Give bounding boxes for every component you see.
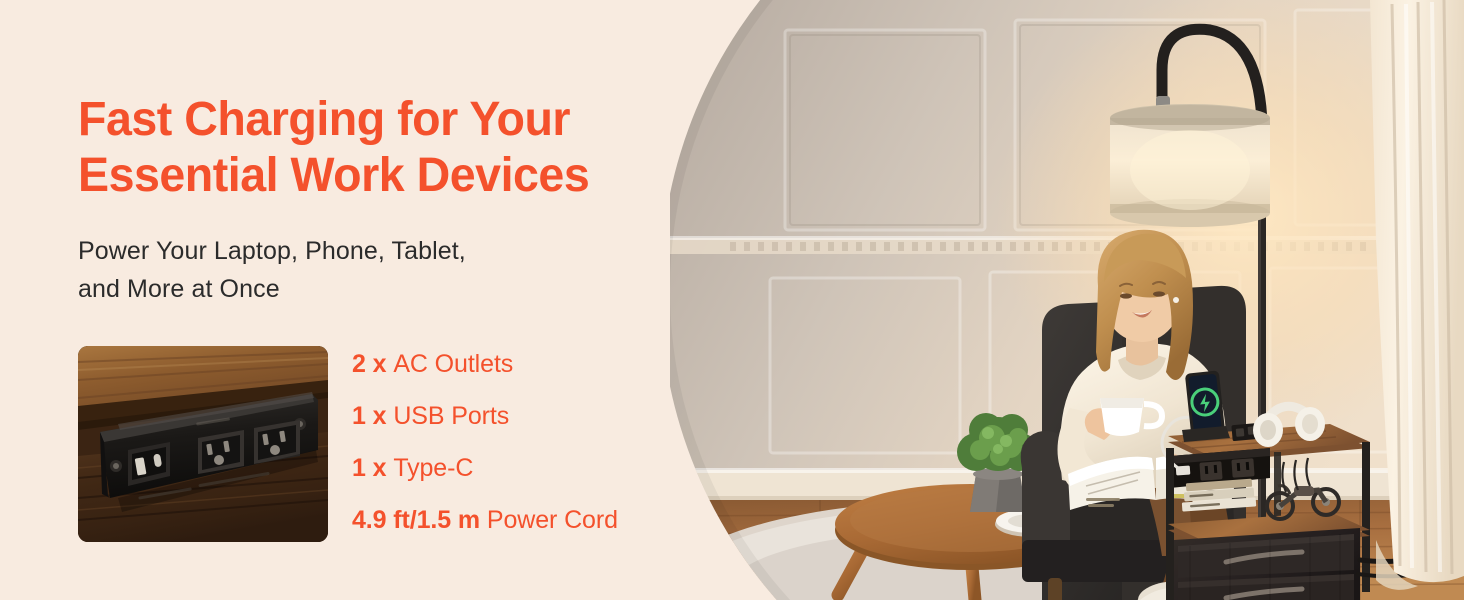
product-thumbnail	[78, 346, 328, 542]
feature-item-0: 2 x AC Outlets	[352, 352, 682, 377]
subheadline-line-2: and More at Once	[78, 270, 678, 308]
subheadline: Power Your Laptop, Phone, Tablet, and Mo…	[78, 232, 678, 308]
page-title: Fast Charging for Your Essential Work De…	[78, 92, 679, 203]
feature-label: Type-C	[393, 454, 473, 482]
headline-line-1: Fast Charging for Your	[78, 92, 679, 148]
feature-item-3: 4.9 ft/1.5 m Power Cord	[352, 508, 682, 533]
feature-label: AC Outlets	[393, 350, 513, 378]
feature-item-2: 1 x Type-C	[352, 456, 682, 481]
headline-line-2: Essential Work Devices	[78, 148, 679, 204]
left-text-panel: Fast Charging for Your Essential Work De…	[0, 0, 700, 600]
lifestyle-photo	[670, 0, 1464, 600]
feature-list: 2 x AC Outlets 1 x USB Ports 1 x Type-C …	[352, 352, 682, 533]
feature-quantity: 4.9 ft/1.5 m	[352, 506, 487, 534]
feature-quantity: 1 x	[352, 454, 393, 482]
feature-item-1: 1 x USB Ports	[352, 404, 682, 429]
feature-quantity: 1 x	[352, 402, 393, 430]
product-feature-banner: Fast Charging for Your Essential Work De…	[0, 0, 1464, 600]
feature-label: Power Cord	[487, 506, 618, 534]
feature-quantity: 2 x	[352, 350, 393, 378]
feature-label: USB Ports	[393, 402, 509, 430]
subheadline-line-1: Power Your Laptop, Phone, Tablet,	[78, 232, 678, 270]
